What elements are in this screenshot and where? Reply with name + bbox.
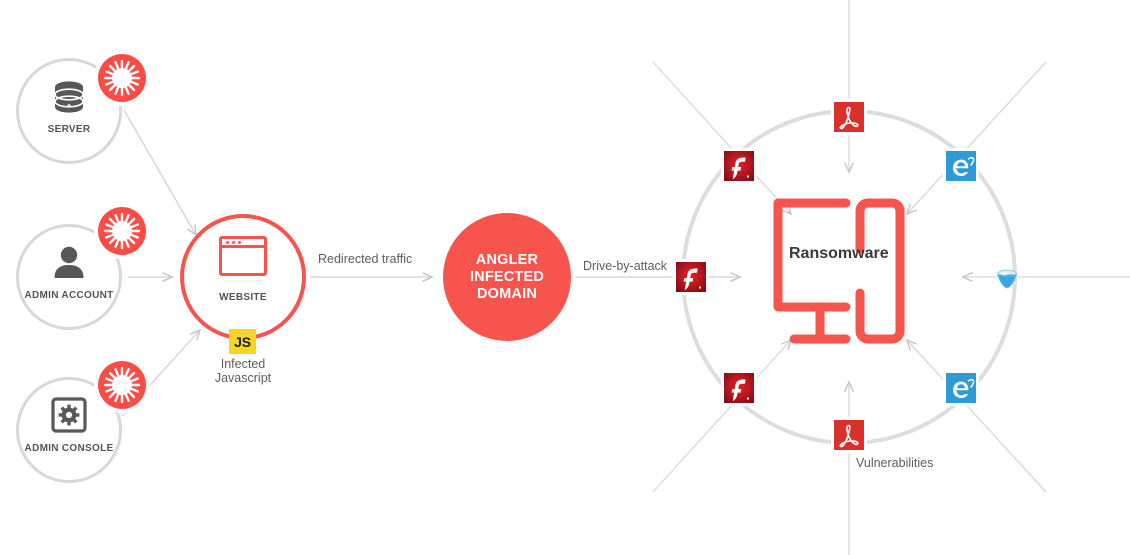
acrobat-glyph xyxy=(834,102,864,132)
browser-window-icon xyxy=(219,236,267,276)
flash-f-glyph xyxy=(676,262,706,292)
silverlight-gem-glyph xyxy=(994,265,1020,291)
pdf-icon[interactable] xyxy=(834,420,864,450)
virus-starburst-icon xyxy=(98,361,146,409)
browser-dot xyxy=(232,241,235,244)
monitor-lock-icon xyxy=(768,197,910,350)
flash-icon[interactable] xyxy=(676,262,706,292)
js-caption-line1: Infected xyxy=(168,357,318,371)
flash-icon[interactable] xyxy=(724,373,754,403)
angler-infected-domain-node[interactable]: ANGLERINFECTEDDOMAIN xyxy=(443,213,571,341)
browser-dot xyxy=(238,241,241,244)
flash-f-glyph xyxy=(724,373,754,403)
label-redirected-traffic: Redirected traffic xyxy=(318,252,412,266)
ransomware-label: Ransomware xyxy=(789,245,889,263)
label-drive-by-attack: Drive-by-attack xyxy=(583,259,667,273)
internet-explorer-e-glyph xyxy=(946,151,976,181)
label-vulnerabilities: Vulnerabilities xyxy=(856,456,933,470)
ie-icon[interactable] xyxy=(946,373,976,403)
internet-explorer-e-glyph xyxy=(946,373,976,403)
pdf-icon[interactable] xyxy=(834,102,864,132)
angler-label: ANGLERINFECTEDDOMAIN xyxy=(470,252,544,303)
ie-icon[interactable] xyxy=(946,151,976,181)
silverlight-icon[interactable] xyxy=(994,265,1020,291)
diagram-canvas: SERVER xyxy=(0,0,1130,555)
virus-badge xyxy=(98,207,146,255)
virus-starburst-icon xyxy=(98,207,146,255)
js-caption-line2: Javascript xyxy=(168,371,318,385)
flash-f-glyph xyxy=(724,151,754,181)
flash-icon[interactable] xyxy=(724,151,754,181)
website-label: WEBSITE xyxy=(163,292,323,303)
browser-dot xyxy=(226,241,229,244)
entity-label: SERVER xyxy=(0,124,142,135)
website-node[interactable] xyxy=(180,214,306,340)
js-badge: JS xyxy=(229,329,256,354)
entity-label: ADMIN CONSOLE xyxy=(0,443,142,454)
virus-badge xyxy=(98,54,146,102)
entity-label: ADMIN ACCOUNT xyxy=(0,290,142,301)
acrobat-glyph xyxy=(834,420,864,450)
virus-starburst-icon xyxy=(98,54,146,102)
virus-badge xyxy=(98,361,146,409)
